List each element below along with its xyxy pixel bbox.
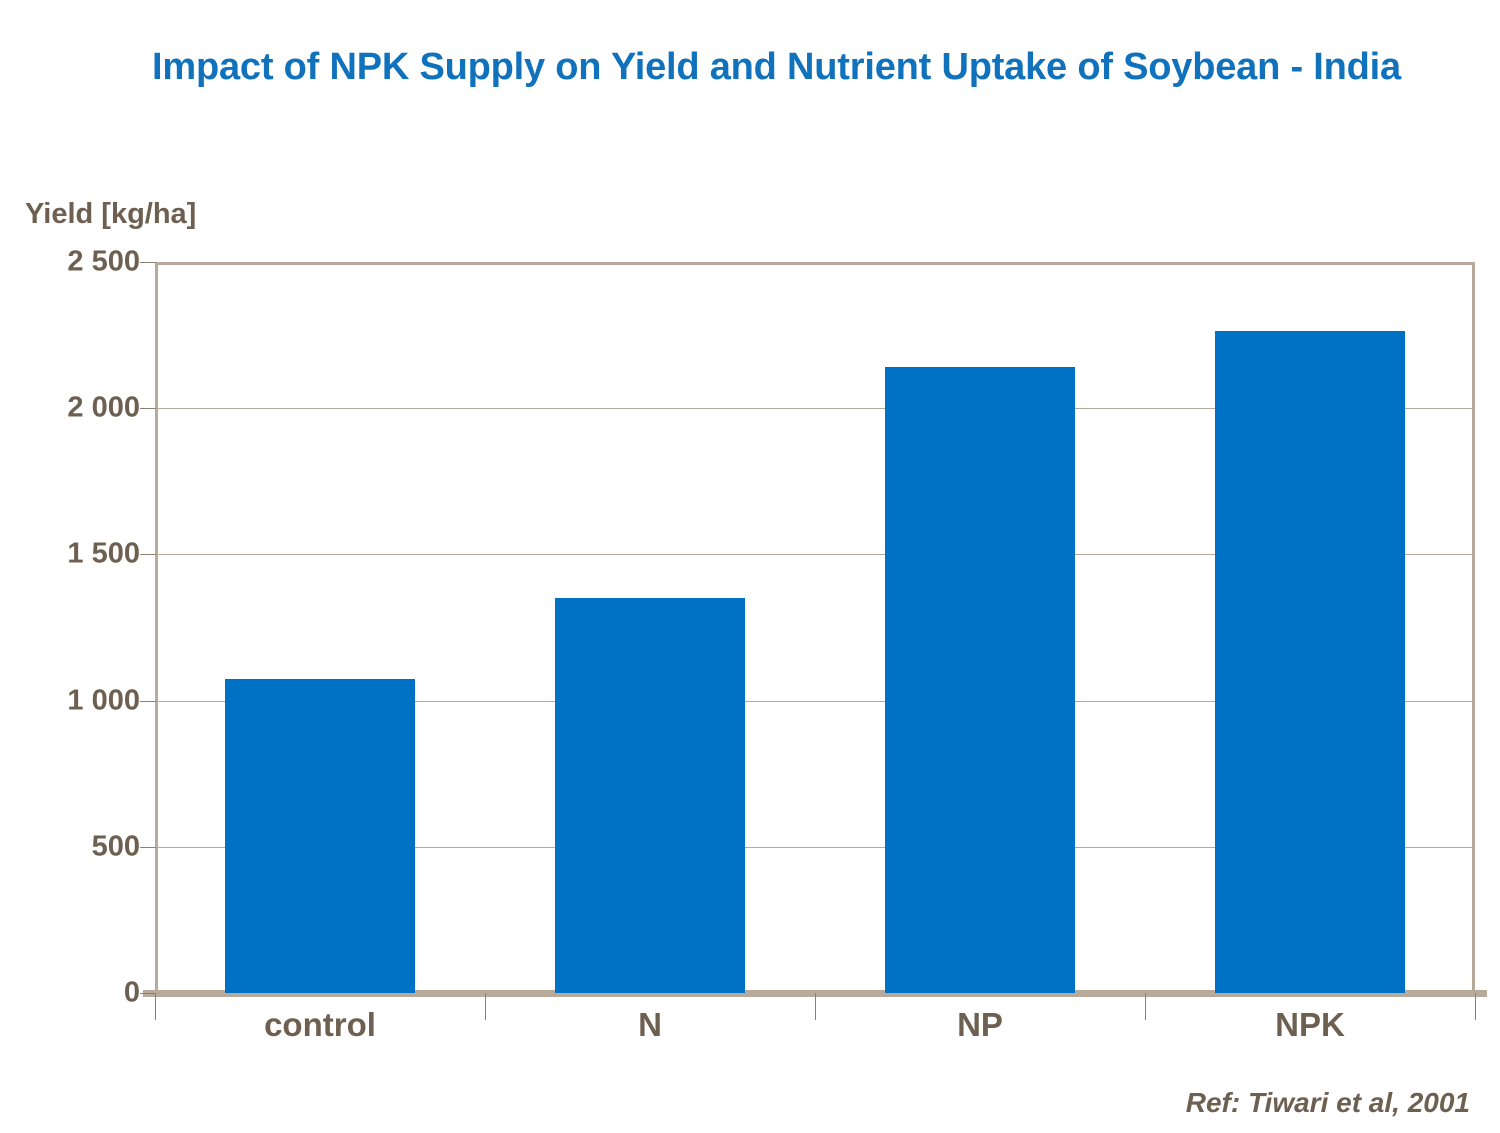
x-tick-label-NP: NP <box>815 1006 1145 1044</box>
bar-series <box>155 262 1475 993</box>
bar-NPK[interactable] <box>1215 331 1405 993</box>
x-tick-mark <box>1145 993 1146 1020</box>
chart-canvas: 05001 0001 5002 0002 500 controlNNPNPK <box>0 0 1500 1133</box>
y-tick-label: 1 000 <box>10 684 140 717</box>
x-axis-end-tick <box>155 993 156 1020</box>
y-tick-label: 0 <box>10 977 140 1010</box>
y-tick-mark <box>140 262 156 263</box>
x-tick-label-control: control <box>155 1006 485 1044</box>
x-tick-mark <box>485 993 486 1020</box>
bar-NP[interactable] <box>885 367 1075 993</box>
bar-N[interactable] <box>555 598 745 993</box>
x-tick-label-N: N <box>485 1006 815 1044</box>
bar-control[interactable] <box>225 679 415 993</box>
y-tick-mark <box>140 408 156 409</box>
y-tick-label: 2 500 <box>10 246 140 279</box>
reference-note: Ref: Tiwari et al, 2001 <box>1186 1087 1470 1119</box>
y-tick-label: 2 000 <box>10 392 140 425</box>
y-tick-mark <box>140 847 156 848</box>
x-tick-label-NPK: NPK <box>1145 1006 1475 1044</box>
y-axis-tick-labels: 05001 0001 5002 0002 500 <box>0 0 140 1133</box>
y-tick-mark <box>140 701 156 702</box>
y-tick-mark <box>140 993 156 994</box>
y-tick-label: 500 <box>10 830 140 863</box>
y-tick-label: 1 500 <box>10 538 140 571</box>
y-tick-mark <box>140 554 156 555</box>
x-axis-end-tick <box>1475 993 1476 1020</box>
x-tick-mark <box>815 993 816 1020</box>
